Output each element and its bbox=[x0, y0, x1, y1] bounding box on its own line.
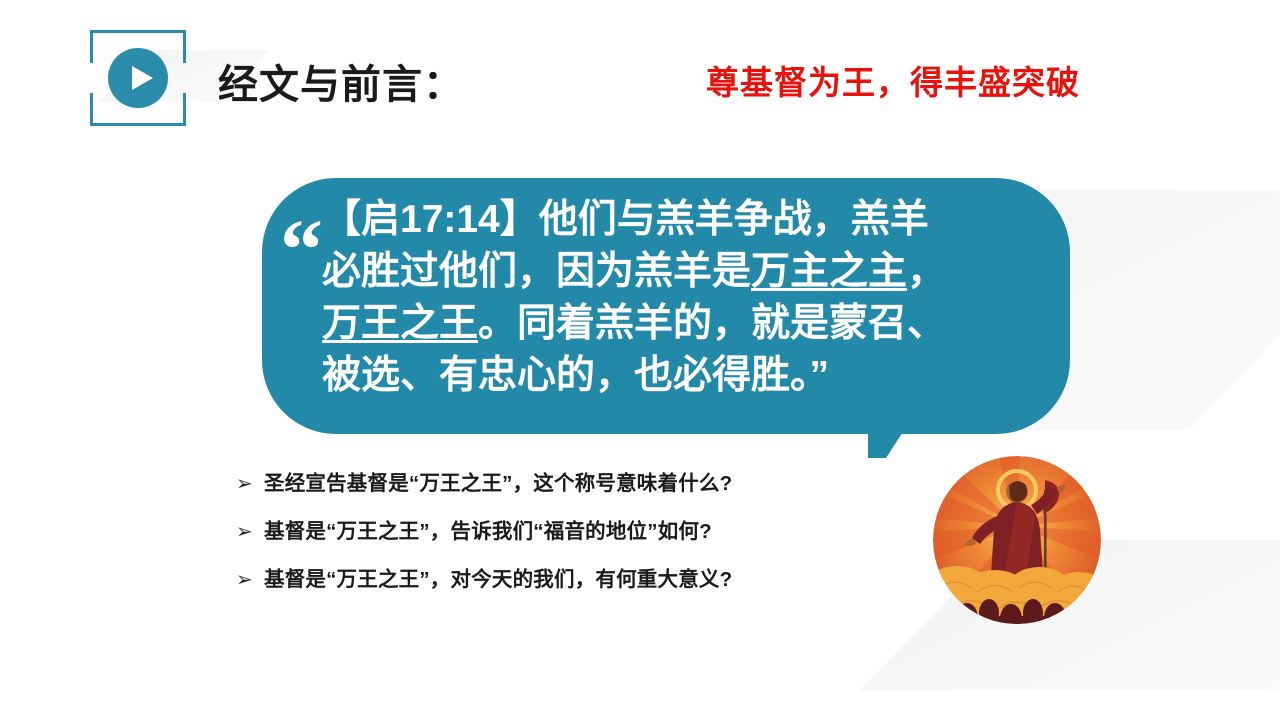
quote-line-4: 被选、有忠心的，也必得胜。” bbox=[322, 350, 1062, 402]
arrow-bullet-icon: ➢ bbox=[236, 518, 264, 546]
quote-line-3: 万王之王。同着羔羊的，就是蒙召、 bbox=[322, 298, 1062, 350]
scripture-quote-text: 【启17:14】他们与羔羊争战，羔羊 必胜过他们，因为羔羊是万主之主， 万王之王… bbox=[322, 194, 1062, 402]
list-item-label: 基督是“万王之王”，对今天的我们，有何重大意义? bbox=[264, 566, 732, 594]
slide-header: 经文与前言： 尊基督为王，得丰盛突破 bbox=[0, 0, 1280, 150]
list-item[interactable]: ➢ 圣经宣告基督是“万王之王”，这个称号意味着什么? bbox=[236, 470, 896, 498]
frame-edge-bottom bbox=[117, 123, 159, 126]
list-item-label: 基督是“万王之王”，告诉我们“福音的地位”如何? bbox=[264, 518, 712, 546]
question-list: ➢ 圣经宣告基督是“万王之王”，这个称号意味着什么? ➢ 基督是“万王之王”，告… bbox=[236, 470, 896, 614]
page-title: 经文与前言： bbox=[218, 52, 464, 110]
underlined-term-lord-of-lords: 万主之主 bbox=[751, 250, 907, 293]
play-button-icon[interactable] bbox=[108, 48, 168, 108]
underlined-term-king-of-kings: 万王之王 bbox=[322, 302, 478, 345]
arrow-bullet-icon: ➢ bbox=[236, 470, 264, 498]
speech-bubble-tail bbox=[868, 424, 908, 458]
list-item[interactable]: ➢ 基督是“万王之王”，对今天的我们，有何重大意义? bbox=[236, 566, 896, 594]
slide-canvas: 经文与前言： 尊基督为王，得丰盛突破 “ 【启17:14】他们与羔羊争战，羔羊 … bbox=[0, 0, 1280, 720]
arrow-bullet-icon: ➢ bbox=[236, 566, 264, 594]
quote-line-2: 必胜过他们，因为羔羊是万主之主， bbox=[322, 246, 1062, 298]
ascending-christ-illustration bbox=[933, 456, 1101, 624]
frame-edge-top bbox=[117, 30, 159, 33]
list-item[interactable]: ➢ 基督是“万王之王”，告诉我们“福音的地位”如何? bbox=[236, 518, 896, 546]
scripture-quote-bubble: “ 【启17:14】他们与羔羊争战，羔羊 必胜过他们，因为羔羊是万主之主， 万王… bbox=[262, 178, 1070, 434]
header-subtitle: 尊基督为王，得丰盛突破 bbox=[706, 56, 1080, 104]
quote-line-1: 【启17:14】他们与羔羊争战，羔羊 bbox=[322, 194, 1062, 246]
list-item-label: 圣经宣告基督是“万王之王”，这个称号意味着什么? bbox=[264, 470, 732, 498]
